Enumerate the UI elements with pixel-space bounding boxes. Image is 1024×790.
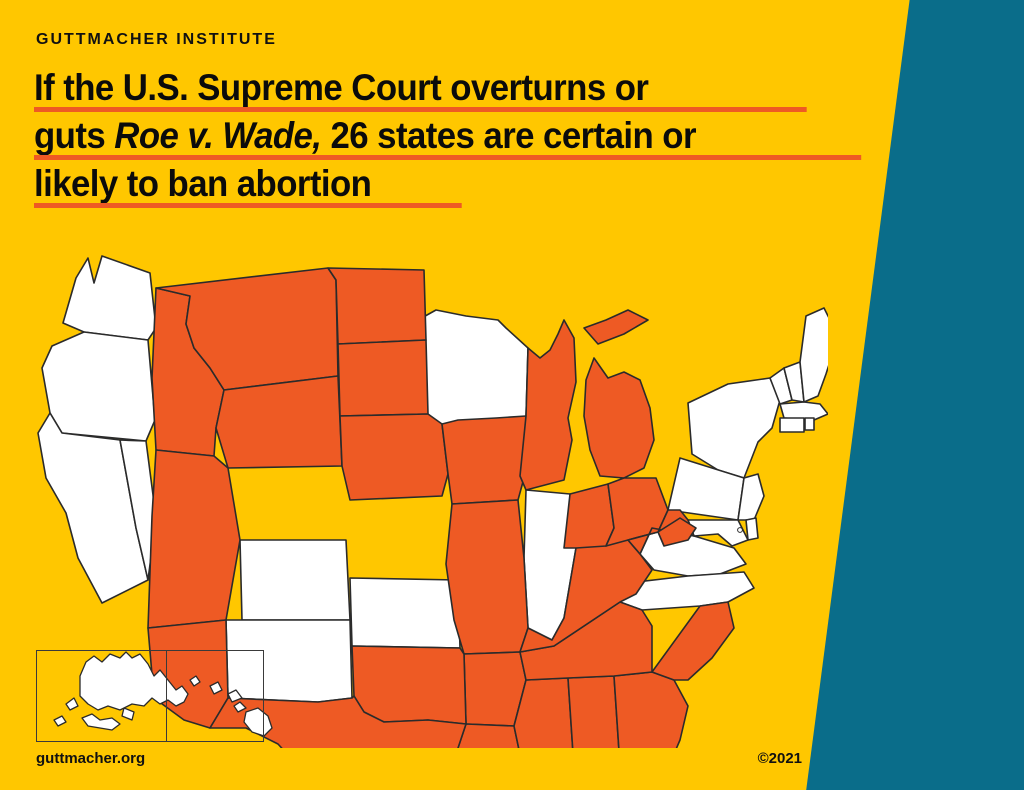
state-RI[interactable]: [805, 418, 814, 430]
headline-underline-1: [34, 107, 807, 112]
headline-line-2: guts Roe v. Wade, 26 states are certain …: [34, 116, 833, 160]
state-WA[interactable]: [63, 256, 156, 340]
state-AL[interactable]: [568, 676, 620, 748]
hawaii-inset-frame: [167, 650, 264, 742]
state-IA[interactable]: [442, 416, 526, 504]
state-KS[interactable]: [350, 578, 460, 648]
inset-frames: [36, 650, 264, 742]
state-ND[interactable]: [328, 268, 426, 344]
case-name-italic: Roe v. Wade,: [114, 115, 321, 156]
state-WY[interactable]: [216, 376, 342, 468]
alaska-inset-frame: [36, 650, 167, 742]
state-WI[interactable]: [520, 320, 576, 490]
headline-underline-2: [34, 155, 861, 160]
state-MI[interactable]: [584, 310, 654, 478]
state-NE[interactable]: [340, 414, 448, 500]
state-CT[interactable]: [780, 418, 804, 432]
state-DE[interactable]: [746, 518, 758, 540]
headline-line-3: likely to ban abortion: [34, 164, 833, 208]
website-url[interactable]: guttmacher.org: [36, 750, 145, 767]
district-of-columbia-marker[interactable]: [738, 528, 743, 533]
copyright-notice: ©2021: [758, 750, 802, 767]
state-IN[interactable]: [564, 484, 614, 548]
poster-canvas: GUTTMACHER INSTITUTE If the U.S. Supreme…: [0, 0, 1024, 790]
state-UT[interactable]: [148, 450, 240, 628]
headline-line-2-prefix: guts: [34, 115, 114, 156]
headline-underline-3: [34, 203, 462, 208]
organization-kicker: GUTTMACHER INSTITUTE: [36, 31, 277, 49]
headline-line-3-text: likely to ban abortion: [34, 163, 371, 204]
headline-line-2-suffix: 26 states are certain or: [321, 115, 696, 156]
state-CO[interactable]: [240, 540, 350, 620]
state-SC[interactable]: [652, 602, 734, 680]
page-title: If the U.S. Supreme Court overturns or g…: [34, 68, 884, 212]
state-SD[interactable]: [338, 340, 428, 416]
state-OR[interactable]: [42, 332, 155, 441]
state-OK[interactable]: [352, 646, 466, 724]
headline-line-1: If the U.S. Supreme Court overturns or: [34, 68, 833, 112]
state-GA[interactable]: [614, 672, 688, 748]
state-MO[interactable]: [446, 500, 528, 654]
state-ME[interactable]: [800, 308, 828, 402]
state-MS[interactable]: [514, 678, 574, 748]
state-NY[interactable]: [688, 378, 780, 478]
headline-line-1-text: If the U.S. Supreme Court overturns or: [34, 67, 648, 108]
